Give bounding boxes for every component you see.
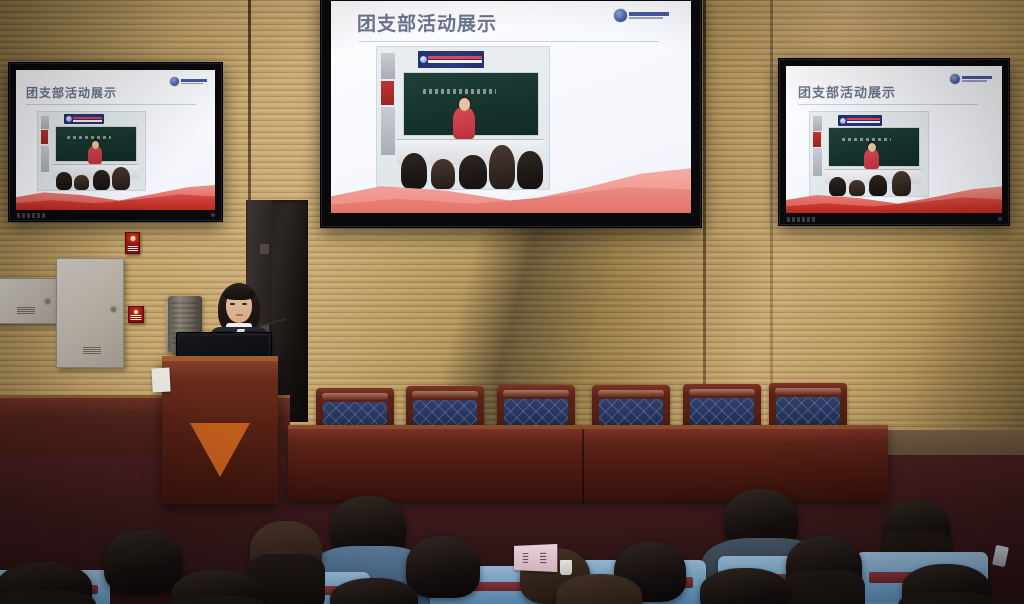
head-table <box>288 425 888 500</box>
electrical-panel-small[interactable] <box>0 278 58 324</box>
photo-banner <box>418 51 484 68</box>
desk-name-card <box>514 544 557 572</box>
university-seal-logo <box>950 74 992 84</box>
audience-head <box>700 568 790 604</box>
lecture-hall-scene: 团支部活动展示 <box>0 0 1024 604</box>
audience-head <box>104 530 182 594</box>
university-seal-logo <box>170 77 207 86</box>
fire-alarm-strobe <box>125 232 140 254</box>
monitor-brand-label <box>17 213 45 218</box>
audience-head <box>250 521 322 581</box>
fire-alarm-pull-station[interactable] <box>128 306 144 323</box>
audience-head <box>406 536 480 598</box>
paper-cup <box>560 560 572 575</box>
monitor-ir-sensor <box>998 217 1002 221</box>
right-monitor-slide-title: 团支部活动展示 <box>798 82 896 101</box>
university-seal-logo <box>614 9 669 22</box>
inverted-triangle-emblem <box>190 423 250 477</box>
monitor-ir-sensor <box>211 213 215 217</box>
audience-head <box>786 536 862 598</box>
podium <box>162 356 278 504</box>
photo-banner <box>838 115 882 126</box>
left-monitor[interactable]: 团支部活动展示 <box>8 62 223 222</box>
paper-stack <box>151 368 170 393</box>
audience-head <box>884 500 950 556</box>
main-slide: 团支部活动展示 <box>331 1 691 213</box>
left-monitor-slide-title: 团支部活动展示 <box>26 84 117 101</box>
slide-title-underline <box>798 104 978 105</box>
main-projection-screen[interactable]: 团支部活动展示 <box>320 0 702 228</box>
main-slide-title: 团支部活动展示 <box>357 9 497 36</box>
microphone-head <box>286 316 293 323</box>
monitor-brand-label <box>787 217 815 222</box>
audience-head <box>902 564 990 604</box>
electrical-panel-large[interactable] <box>56 258 124 368</box>
slide-photo <box>810 112 928 196</box>
slide-title-underline <box>26 104 196 105</box>
left-monitor-slide: 团支部活动展示 <box>16 70 215 210</box>
audience-head <box>172 570 264 604</box>
slide-photo <box>38 112 145 190</box>
photo-banner <box>64 114 104 124</box>
slide-photo <box>377 47 549 189</box>
slide-title-underline <box>359 41 659 42</box>
right-monitor[interactable]: 团支部活动展示 <box>778 58 1010 226</box>
audience-head <box>0 562 92 604</box>
right-monitor-slide: 团支部活动展示 <box>786 66 1002 213</box>
